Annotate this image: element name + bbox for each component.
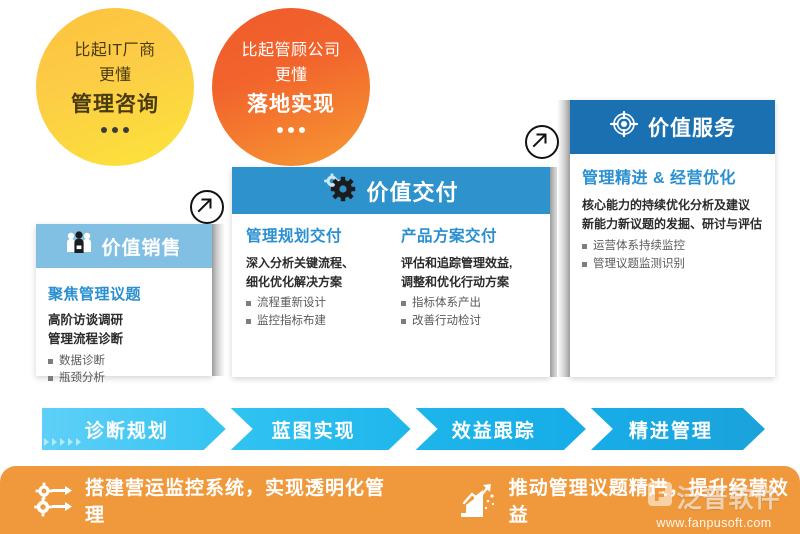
process-step-label: 蓝图实现: [272, 416, 356, 443]
list-item: 监控指标布建: [246, 313, 383, 331]
delivery-lead-2: 细化优化解决方案: [246, 273, 383, 292]
arrow-up-right-icon: [190, 190, 224, 224]
circle-line-2: 更懂: [275, 66, 307, 86]
circle-dots-decoration: [277, 127, 305, 133]
banner-item-monitoring: 搭建营运监控系统，实现透明化管理: [34, 473, 396, 527]
process-step-bar: 诊断规划 蓝图实现 效益跟踪 精进管理: [42, 408, 770, 450]
circle-line-3: 落地实现: [247, 92, 335, 118]
sales-bullet-list: 数据诊断 瓶颈分析: [48, 353, 200, 389]
panel-value-sales-body: 聚焦管理议题 高阶访谈调研 管理流程诊断 数据诊断 瓶颈分析: [36, 268, 212, 396]
circle-line-1: 比起IT厂商: [74, 41, 155, 61]
delivery-section-title: 管理规划交付: [246, 224, 383, 246]
delivery-lead-1: 深入分析关键流程、: [246, 254, 383, 273]
process-step-label: 效益跟踪: [452, 416, 536, 443]
panel-value-delivery-title: 价值交付: [366, 175, 458, 207]
panel-value-sales-header: 价值销售: [36, 224, 212, 268]
process-step-blueprint[interactable]: 蓝图实现: [231, 408, 411, 450]
banner-text: 推动管理议题精进，提升经营效益: [509, 473, 800, 527]
service-lead-2: 新能力新议题的发掘、研讨与评估: [582, 215, 765, 234]
process-step-diagnosis[interactable]: 诊断规划: [42, 408, 226, 450]
delivery-bullet-list: 流程重新设计 监控指标布建: [246, 295, 383, 331]
process-step-label: 精进管理: [629, 416, 713, 443]
panel-value-delivery-header: 价值交付: [232, 167, 550, 214]
panel-value-service-body: 管理精进 & 经营优化 核心能力的持续优化分析及建议 新能力新议题的发掘、研讨与…: [570, 154, 775, 282]
delivery-bullet-list: 指标体系产出 改善行动检讨: [401, 295, 538, 331]
arrow-up-right-icon: [525, 125, 559, 159]
delivery-section-title: 产品方案交付: [401, 224, 538, 246]
delivery-lead-2: 调整和优化行动方案: [401, 273, 538, 292]
chevron-marks-decoration: [44, 438, 81, 446]
list-item: 运营体系持续监控: [582, 238, 765, 256]
list-item: 数据诊断: [48, 353, 200, 371]
people-group-icon: [66, 231, 92, 261]
circle-line-1: 比起管顾公司: [241, 41, 340, 61]
delivery-column-management-plan: 管理规划交付 深入分析关键流程、 细化优化解决方案 流程重新设计 监控指标布建: [246, 224, 383, 331]
delivery-column-product-solution: 产品方案交付 评估和追踪管理效益, 调整和优化行动方案 指标体系产出 改善行动检…: [401, 224, 538, 331]
process-step-advanced-management[interactable]: 精进管理: [591, 408, 765, 450]
growth-chart-icon: [458, 481, 498, 519]
circle-dots-decoration: [101, 127, 129, 133]
circle-it-vendor: 比起IT厂商 更懂 管理咨询: [36, 8, 194, 166]
banner-text: 搭建营运监控系统，实现透明化管理: [85, 473, 396, 527]
delivery-lead-1: 评估和追踪管理效益,: [401, 254, 538, 273]
panel-value-delivery: 价值交付 管理规划交付 深入分析关键流程、 细化优化解决方案 流程重新设计 监控…: [232, 167, 550, 377]
sales-lead-1: 高阶访谈调研: [48, 311, 200, 330]
list-item: 指标体系产出: [401, 295, 538, 313]
list-item: 瓶颈分析: [48, 370, 200, 388]
sales-lead-2: 管理流程诊断: [48, 330, 200, 349]
bottom-banner: 搭建营运监控系统，实现透明化管理: [0, 466, 800, 534]
gears-icon: [323, 173, 357, 209]
circle-line-3: 管理咨询: [71, 92, 159, 118]
process-step-label: 诊断规划: [85, 416, 169, 443]
service-bullet-list: 运营体系持续监控 管理议题监测识别: [582, 238, 765, 274]
service-section-title: 管理精进 & 经营优化: [582, 164, 765, 188]
panel-value-service: 价值服务 管理精进 & 经营优化 核心能力的持续优化分析及建议 新能力新议题的发…: [570, 100, 775, 377]
list-item: 管理议题监测识别: [582, 256, 765, 274]
panel-value-sales: 价值销售 聚焦管理议题 高阶访谈调研 管理流程诊断 数据诊断 瓶颈分析: [36, 224, 212, 376]
list-item: 改善行动检讨: [401, 313, 538, 331]
circle-consulting-firm: 比起管顾公司 更懂 落地实现: [212, 8, 370, 166]
banner-item-improvement: 推动管理议题精进，提升经营效益: [458, 473, 800, 527]
radar-target-icon: [609, 110, 639, 144]
service-lead-1: 核心能力的持续优化分析及建议: [582, 196, 765, 215]
sales-section-title: 聚焦管理议题: [48, 283, 200, 304]
panel-value-sales-title: 价值销售: [101, 233, 181, 260]
process-step-benefit-tracking[interactable]: 效益跟踪: [416, 408, 586, 450]
list-item: 流程重新设计: [246, 295, 383, 313]
panel-value-delivery-body: 管理规划交付 深入分析关键流程、 细化优化解决方案 流程重新设计 监控指标布建 …: [232, 214, 550, 331]
panel-value-service-header: 价值服务: [570, 100, 775, 154]
circle-line-2: 更懂: [99, 66, 131, 86]
panel-value-service-title: 价值服务: [648, 112, 736, 142]
gears-arrow-icon: [34, 481, 74, 519]
